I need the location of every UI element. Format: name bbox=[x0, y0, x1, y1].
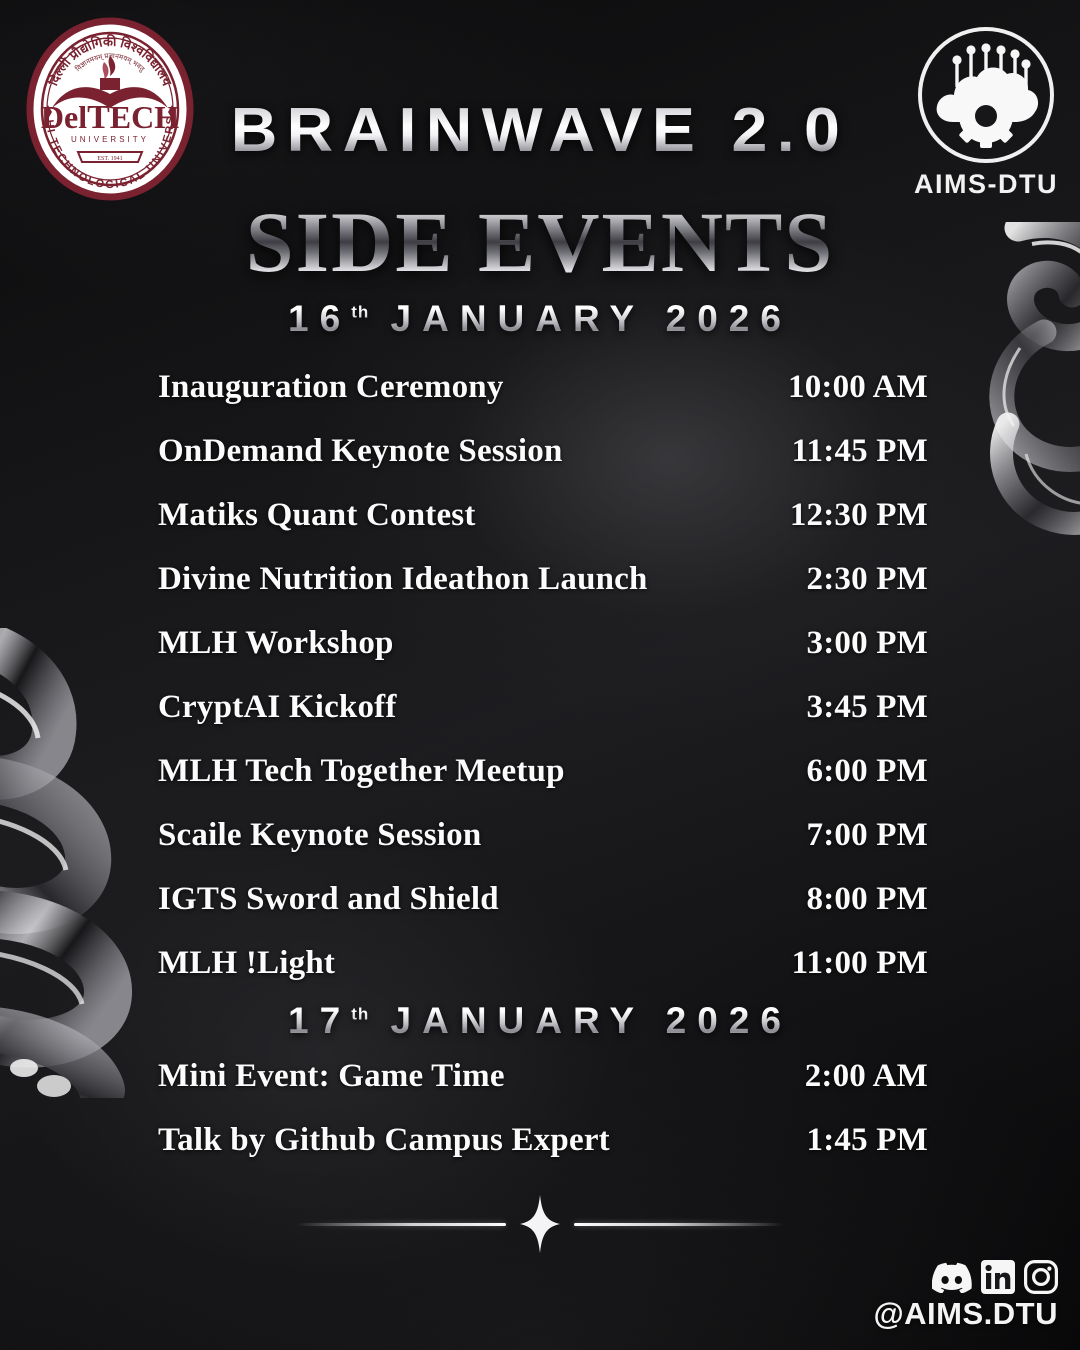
schedule-row: MLH Tech Together Meetup 6:00 PM bbox=[158, 753, 928, 817]
event-name: CryptAI Kickoff bbox=[158, 689, 397, 726]
event-time: 2:00 AM bbox=[805, 1058, 928, 1095]
event-name: Talk by Github Campus Expert bbox=[158, 1122, 610, 1159]
schedule-list-day2: Mini Event: Game Time 2:00 AM Talk by Gi… bbox=[158, 1058, 928, 1186]
event-time: 2:30 PM bbox=[807, 561, 928, 598]
poster-root: दिल्ली प्रौद्योगिकी विश्वविद्यालय विज्ञा… bbox=[0, 0, 1080, 1350]
brainwave-wordmark: BRAINWAVE 2.0 bbox=[0, 95, 1080, 166]
schedule-row: CryptAI Kickoff 3:45 PM bbox=[158, 689, 928, 753]
event-time: 12:30 PM bbox=[790, 497, 928, 534]
event-name: MLH Workshop bbox=[158, 625, 394, 662]
event-name: MLH !Light bbox=[158, 945, 335, 982]
event-time: 10:00 AM bbox=[788, 369, 928, 406]
discord-icon[interactable] bbox=[932, 1262, 972, 1293]
schedule-row: IGTS Sword and Shield 8:00 PM bbox=[158, 881, 928, 945]
event-name: Matiks Quant Contest bbox=[158, 497, 476, 534]
event-time: 6:00 PM bbox=[807, 753, 928, 790]
schedule-row: MLH Workshop 3:00 PM bbox=[158, 625, 928, 689]
schedule-row: Scaile Keynote Session 7:00 PM bbox=[158, 817, 928, 881]
social-handle: @AIMS.DTU bbox=[873, 1296, 1058, 1332]
event-name: OnDemand Keynote Session bbox=[158, 433, 563, 470]
schedule-row: Divine Nutrition Ideathon Launch 2:30 PM bbox=[158, 561, 928, 625]
date-ordinal: th bbox=[351, 303, 369, 322]
event-time: 11:45 PM bbox=[792, 433, 928, 470]
schedule-row: OnDemand Keynote Session 11:45 PM bbox=[158, 433, 928, 497]
schedule-row: Matiks Quant Contest 12:30 PM bbox=[158, 497, 928, 561]
instagram-icon[interactable] bbox=[1024, 1260, 1058, 1294]
event-name: Inauguration Ceremony bbox=[158, 369, 504, 406]
event-name: Divine Nutrition Ideathon Launch bbox=[158, 561, 648, 598]
divider-line-left bbox=[296, 1223, 506, 1226]
event-time: 3:00 PM bbox=[807, 625, 928, 662]
date-month-year: JANUARY 2026 bbox=[391, 298, 792, 339]
page-title: SIDE EVENTS bbox=[0, 192, 1080, 292]
date-month-year: JANUARY 2026 bbox=[391, 1000, 792, 1041]
event-time: 8:00 PM bbox=[807, 881, 928, 918]
event-time: 3:45 PM bbox=[807, 689, 928, 726]
event-time: 1:45 PM bbox=[807, 1122, 928, 1159]
date-header-day2: 17th JANUARY 2026 bbox=[0, 1000, 1080, 1042]
event-name: IGTS Sword and Shield bbox=[158, 881, 499, 918]
date-ordinal: th bbox=[351, 1005, 369, 1024]
linkedin-icon[interactable] bbox=[981, 1260, 1015, 1294]
event-name: Scaile Keynote Session bbox=[158, 817, 481, 854]
schedule-row: Talk by Github Campus Expert 1:45 PM bbox=[158, 1122, 928, 1186]
social-icon-row bbox=[873, 1260, 1058, 1294]
schedule-row: Mini Event: Game Time 2:00 AM bbox=[158, 1058, 928, 1122]
social-footer: @AIMS.DTU bbox=[873, 1260, 1058, 1332]
sparkle-icon bbox=[520, 1195, 560, 1253]
event-time: 11:00 PM bbox=[792, 945, 928, 982]
schedule-row: Inauguration Ceremony 10:00 AM bbox=[158, 369, 928, 433]
date-header-day1: 16th JANUARY 2026 bbox=[0, 298, 1080, 340]
schedule-list-day1: Inauguration Ceremony 10:00 AM OnDemand … bbox=[158, 369, 928, 1009]
event-name: MLH Tech Together Meetup bbox=[158, 753, 565, 790]
date-day-number: 16 bbox=[288, 298, 351, 339]
date-day-number: 17 bbox=[288, 1000, 351, 1041]
event-name: Mini Event: Game Time bbox=[158, 1058, 505, 1095]
event-time: 7:00 PM bbox=[807, 817, 928, 854]
section-divider bbox=[0, 1195, 1080, 1253]
divider-line-right bbox=[574, 1223, 784, 1226]
